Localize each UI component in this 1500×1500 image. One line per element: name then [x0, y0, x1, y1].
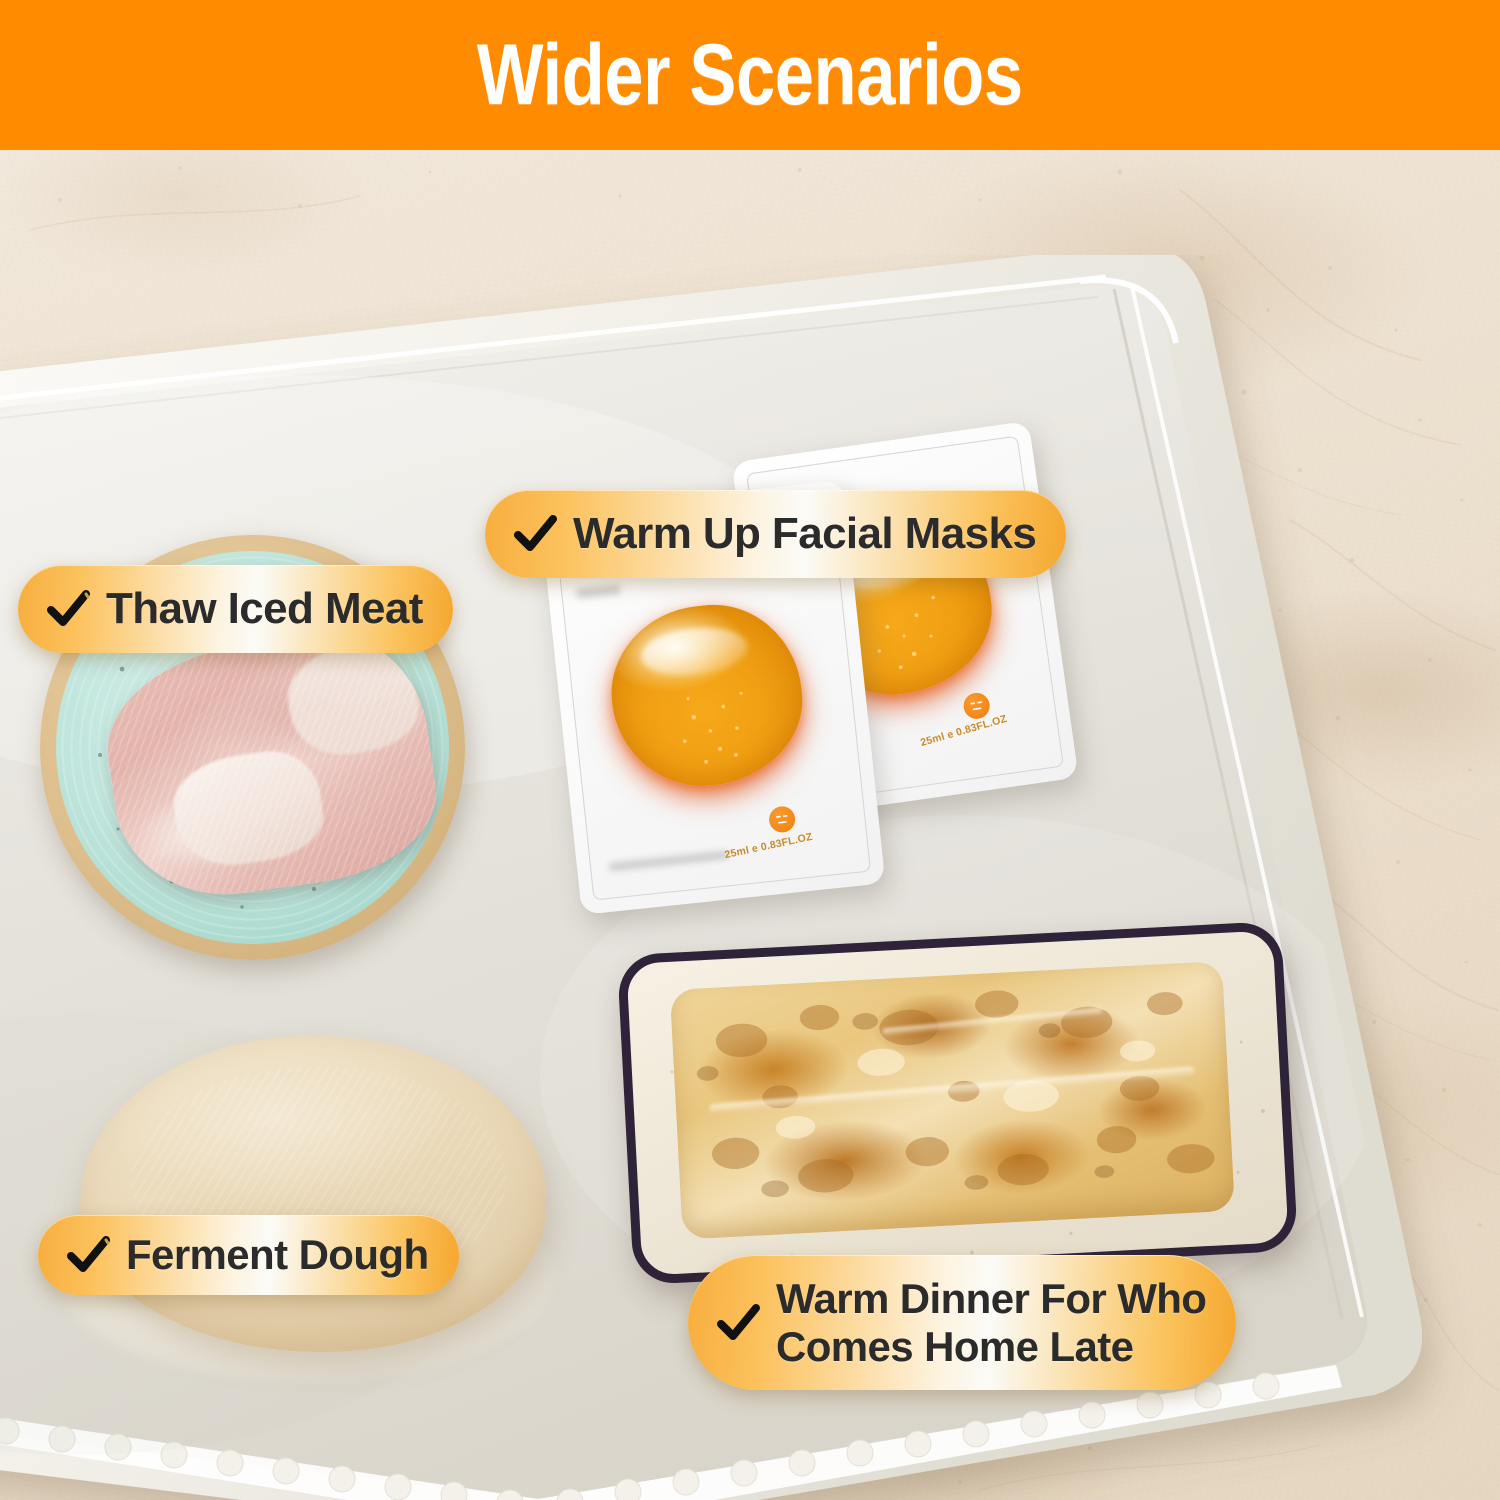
dough-ball-photo [70, 1022, 555, 1377]
badge-thaw-iced-meat[interactable]: Thaw Iced Meat [18, 565, 453, 653]
badge-label: Warm Up Facial Masks [573, 510, 1036, 558]
meat-body [96, 622, 447, 909]
meat-frost-texture [96, 622, 447, 909]
face-glyph [768, 805, 797, 834]
badge-label: Thaw Iced Meat [106, 585, 423, 633]
baking-dish-body [617, 921, 1298, 1285]
face-glyph [962, 691, 991, 720]
badge-label: Warm Dinner For Who Comes Home Late [776, 1275, 1206, 1371]
badge-ferment-dough[interactable]: Ferment Dough [38, 1215, 459, 1295]
frozen-meat [96, 622, 447, 909]
check-icon [44, 585, 92, 633]
page-title: Wider Scenarios [477, 32, 1023, 118]
header-banner: Wider Scenarios [0, 0, 1500, 150]
infographic-canvas: Hot surface Caution [0, 0, 1500, 1500]
check-icon [714, 1299, 762, 1347]
badge-warm-dinner-late[interactable]: Warm Dinner For Who Comes Home Late [688, 1255, 1236, 1390]
dough-body [80, 1036, 546, 1352]
check-icon [64, 1231, 112, 1279]
badge-warm-up-facial-masks[interactable]: Warm Up Facial Masks [485, 490, 1066, 578]
badge-label: Ferment Dough [126, 1232, 429, 1277]
mask-face-icon [962, 691, 991, 720]
mask-face-icon [768, 805, 797, 834]
baked-cheese-dish [670, 961, 1235, 1240]
check-icon [511, 510, 559, 558]
baking-dish-photo [625, 938, 1290, 1268]
